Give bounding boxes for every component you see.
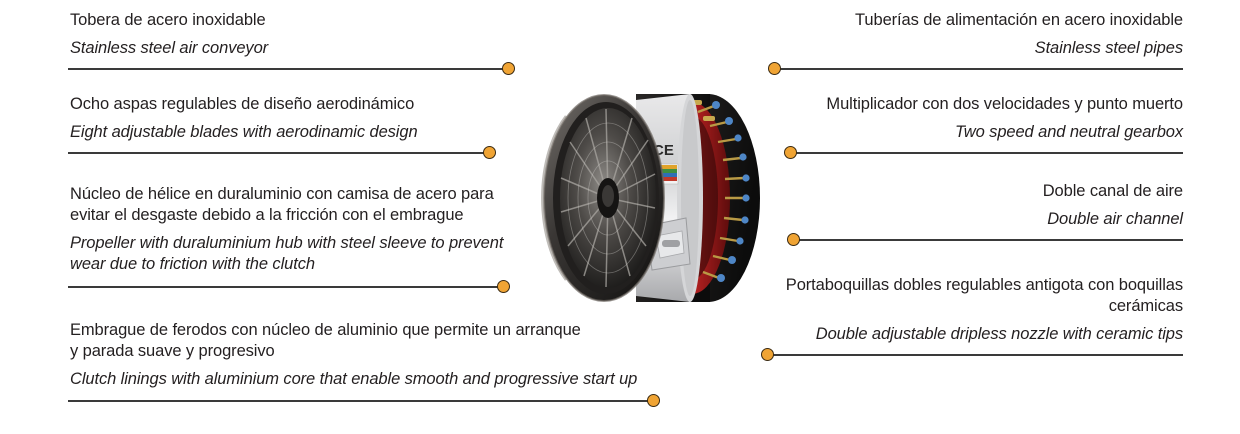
callout-right-4-label-en: Double adjustable dripless nozzle with c…: [720, 324, 1183, 345]
callout-left-3-label-es: Núcleo de hélice en duraluminio con cami…: [70, 184, 540, 226]
callout-left-1-label-es: Tobera de acero inoxidable: [70, 10, 530, 31]
callout-left-4-label-en: Clutch linings with aluminium core that …: [70, 369, 670, 390]
callout-left-1: Tobera de acero inoxidable Stainless ste…: [70, 10, 530, 59]
leader-line-right-4: [762, 348, 1183, 362]
leader-rule: [68, 68, 514, 70]
leader-rule: [769, 68, 1183, 70]
leader-rule: [788, 239, 1183, 241]
callout-right-3-label-es: Doble canal de aire: [720, 181, 1183, 202]
leader-rule: [68, 286, 509, 288]
leader-dot-icon: [787, 233, 800, 246]
callout-left-4-label-es: Embrague de ferodos con núcleo de alumin…: [70, 320, 670, 362]
callout-left-2-label-es: Ocho aspas regulables de diseño aerodiná…: [70, 94, 530, 115]
leader-rule: [762, 354, 1183, 356]
callout-left-2-label-en: Eight adjustable blades with aerodinamic…: [70, 122, 530, 143]
product-photo-axial-fan-sprayer: CE: [540, 78, 764, 306]
callout-right-1: Tuberías de alimentación en acero inoxid…: [720, 10, 1183, 59]
leader-line-right-2: [785, 146, 1183, 160]
leader-dot-icon: [647, 394, 660, 407]
leader-line-left-1: [68, 62, 514, 76]
callout-right-1-label-en: Stainless steel pipes: [720, 38, 1183, 59]
diagram-canvas: Tobera de acero inoxidable Stainless ste…: [0, 0, 1240, 434]
leader-rule: [785, 152, 1183, 154]
leader-dot-icon: [761, 348, 774, 361]
callout-left-4: Embrague de ferodos con núcleo de alumin…: [70, 320, 670, 390]
leader-line-left-3: [68, 280, 509, 294]
leader-dot-icon: [784, 146, 797, 159]
leader-rule: [68, 152, 495, 154]
callout-left-3: Núcleo de hélice en duraluminio con cami…: [70, 184, 540, 275]
leader-line-right-3: [788, 233, 1183, 247]
callout-right-2: Multiplicador con dos velocidades y punt…: [720, 94, 1183, 143]
leader-dot-icon: [483, 146, 496, 159]
callout-right-1-label-es: Tuberías de alimentación en acero inoxid…: [720, 10, 1183, 31]
callout-right-3: Doble canal de aire Double air channel: [720, 181, 1183, 230]
callout-right-2-label-en: Two speed and neutral gearbox: [720, 122, 1183, 143]
leader-line-right-1: [769, 62, 1183, 76]
leader-rule: [68, 400, 659, 402]
callout-right-4: Portaboquillas dobles regulables antigot…: [720, 275, 1183, 345]
leader-line-left-4: [68, 394, 659, 408]
leader-line-left-2: [68, 146, 495, 160]
callout-right-4-label-es: Portaboquillas dobles regulables antigot…: [720, 275, 1183, 317]
leader-dot-icon: [768, 62, 781, 75]
callout-left-3-label-en: Propeller with duraluminium hub with ste…: [70, 233, 540, 275]
leader-dot-icon: [497, 280, 510, 293]
leader-dot-icon: [502, 62, 515, 75]
callout-right-2-label-es: Multiplicador con dos velocidades y punt…: [720, 94, 1183, 115]
callout-right-3-label-en: Double air channel: [720, 209, 1183, 230]
callout-left-1-label-en: Stainless steel air conveyor: [70, 38, 530, 59]
callout-left-2: Ocho aspas regulables de diseño aerodiná…: [70, 94, 530, 143]
